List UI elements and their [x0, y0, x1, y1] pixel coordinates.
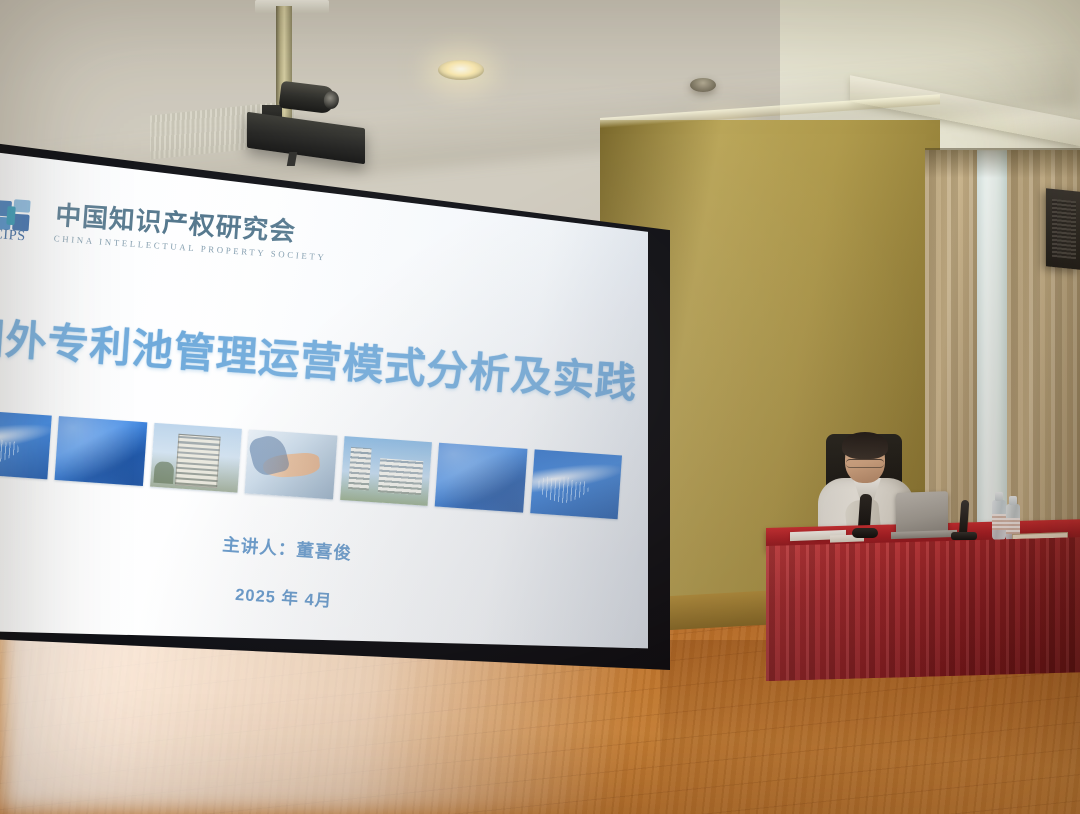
speaker-grille-icon: [1052, 199, 1076, 260]
globe-network-image-2: [530, 449, 622, 519]
gooseneck-microphone-base: [951, 532, 977, 540]
slide-presenter-line: 主讲人：董喜俊: [222, 530, 353, 565]
blue-wave-image-2: [435, 443, 527, 513]
bottle-label: [1006, 518, 1020, 534]
slide-date-line: 2025 年 4月: [235, 580, 334, 611]
office-building-image: [150, 423, 242, 493]
laptop: [896, 491, 948, 535]
city-buildings-image: [340, 436, 432, 506]
globe-network-image: [0, 410, 52, 480]
projector-mount-plate: [255, 0, 329, 13]
curtain-top-shadow: [925, 148, 1080, 178]
water-bottle: [992, 500, 1006, 540]
cips-abbrev: CIPS: [0, 227, 41, 247]
org-name-block: 中国知识产权研究会 CHINA INTELLECTUAL PROPERTY SO…: [54, 203, 329, 262]
presentation-slide: CIPS 中国知识产权研究会 CHINA INTELLECTUAL PROPER…: [0, 148, 648, 656]
slide-logo: CIPS 中国知识产权研究会 CHINA INTELLECTUAL PROPER…: [0, 196, 329, 265]
slide-title: 国外专利池管理运营模式分析及实践: [0, 303, 640, 410]
projection-screen[interactable]: CIPS 中国知识产权研究会 CHINA INTELLECTUAL PROPER…: [0, 148, 648, 656]
slide-image-strip: [0, 410, 622, 520]
microphone-base: [852, 528, 878, 538]
handshake-image: [245, 429, 337, 499]
lecture-room-photo: CIPS 中国知识产权研究会 CHINA INTELLECTUAL PROPER…: [0, 0, 1080, 814]
presenter-hair: [842, 432, 888, 459]
bottle-label: [992, 514, 1006, 530]
smoke-detector-icon: [690, 78, 716, 92]
downlight-icon: [438, 60, 484, 80]
blue-wave-image: [55, 416, 147, 486]
table-skirt-shading: [766, 537, 1080, 681]
cips-logo-icon: CIPS: [0, 196, 39, 244]
glasses-icon: [846, 459, 884, 468]
